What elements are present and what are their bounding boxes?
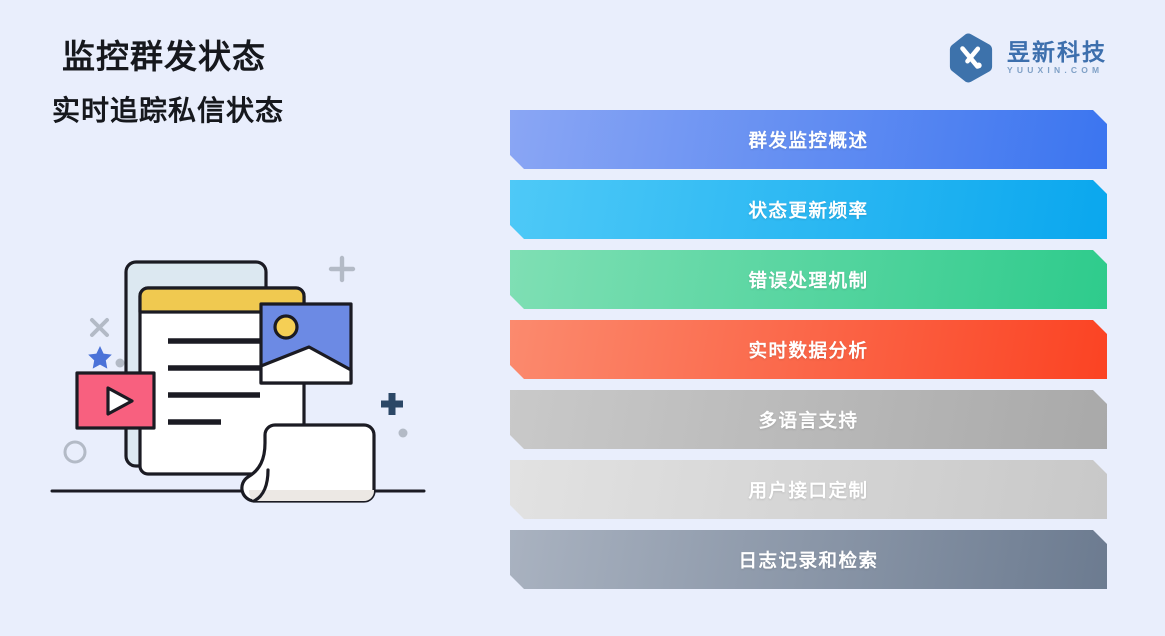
feature-bar-label: 用户接口定制 [748,477,868,503]
brand-logo: 昱新科技 YUUXIN.COM [947,32,1107,84]
plus-navy-icon [381,393,403,415]
star-blue-icon [88,346,112,369]
heading-block: 监控群发状态 实时追踪私信状态 [62,36,482,128]
feature-bar-label: 实时数据分析 [748,337,868,363]
feature-bar-5[interactable]: 用户接口定制 [510,460,1107,519]
logo-domain: YUUXIN.COM [1007,66,1107,75]
page-subtitle: 实时追踪私信状态 [52,93,482,128]
feature-bar-1[interactable]: 状态更新频率 [510,180,1107,239]
feature-bar-6[interactable]: 日志记录和检索 [510,530,1107,589]
feature-bar-0[interactable]: 群发监控概述 [510,110,1107,169]
dot-gray-icon [116,359,125,368]
page-title: 监控群发状态 [62,36,482,77]
blue-image-card [261,304,351,383]
feature-bar-list: 群发监控概述 状态更新频率 错误处理机制 实时数据分析 多语言支持 用户接口定制… [510,110,1107,600]
hexagon-x-logo-icon [947,32,995,84]
feature-bar-label: 多语言支持 [758,407,858,433]
cross-gray-icon [92,320,107,335]
sun-circle [275,316,297,338]
feature-bar-3[interactable]: 实时数据分析 [510,320,1107,379]
circle-outline-icon [65,442,85,462]
logo-text-block: 昱新科技 YUUXIN.COM [1007,41,1107,75]
slide-root: 监控群发状态 实时追踪私信状态 昱新科技 YUUXIN.COM 群发监控概述 状… [0,0,1165,636]
dot-gray-icon [399,429,408,438]
feature-bar-label: 日志记录和检索 [738,547,878,573]
feature-bar-label: 错误处理机制 [748,267,868,293]
logo-company-name: 昱新科技 [1007,41,1107,64]
feature-bar-label: 状态更新频率 [748,197,868,223]
document-media-illustration [48,240,428,520]
feature-bar-4[interactable]: 多语言支持 [510,390,1107,449]
feature-bar-label: 群发监控概述 [748,127,868,153]
pink-play-card [77,373,154,428]
feature-bar-2[interactable]: 错误处理机制 [510,250,1107,309]
plus-gray-icon [331,258,353,280]
